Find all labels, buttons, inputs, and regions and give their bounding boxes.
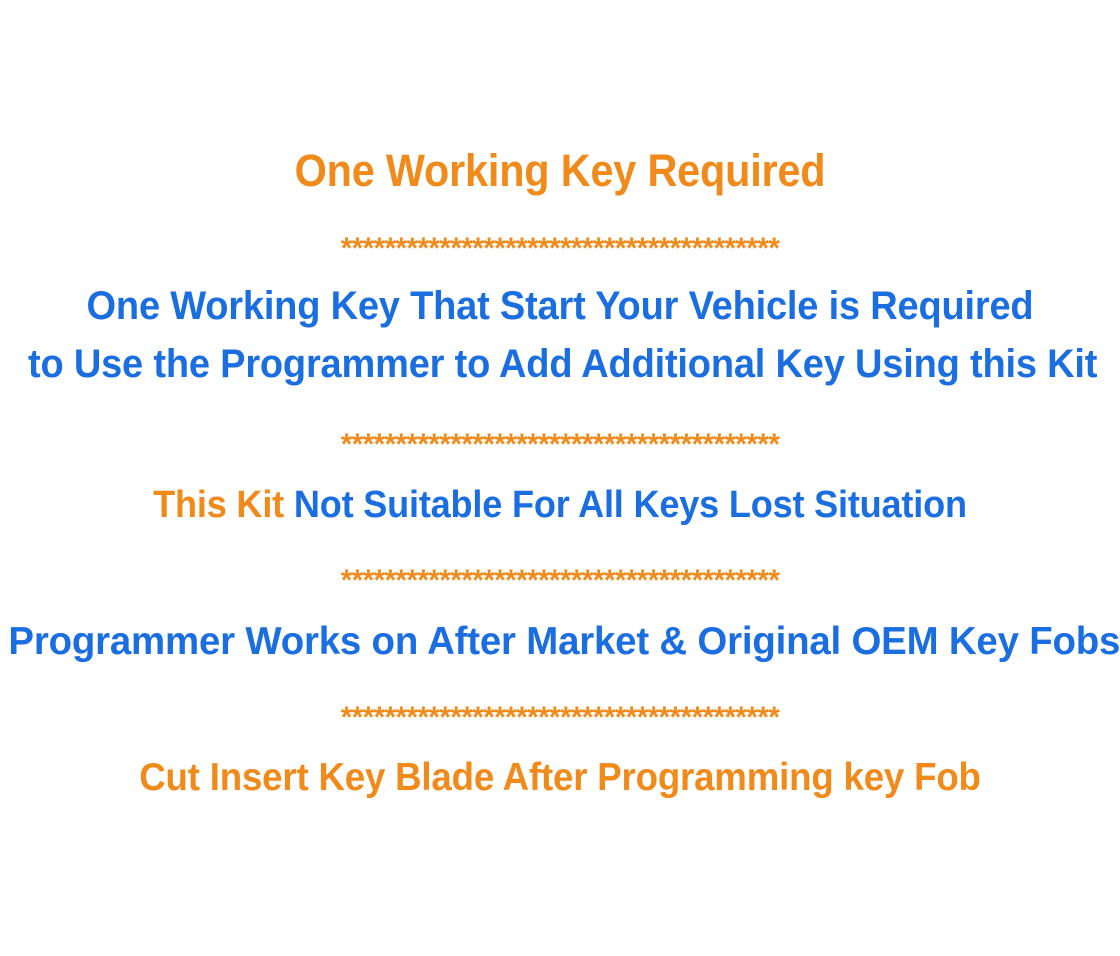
compatibility-line: Programmer Works on After Market & Origi… [8, 622, 1111, 661]
requirement-line-2: to Use the Programmer to Add Additional … [28, 344, 1092, 384]
separator-asterisks-1: **************************************** [6, 234, 1115, 264]
requirement-line-1: One Working Key That Start Your Vehicle … [28, 286, 1092, 326]
requirement-block: One Working Key That Start Your Vehicle … [0, 286, 1120, 384]
notice-content: One Working Key Required ***************… [0, 0, 1120, 956]
limitation-line: This Kit Not Suitable For All Keys Lost … [28, 486, 1092, 524]
limitation-emphasis: This Kit [153, 484, 284, 526]
notice-graphic: One Working Key Required ***************… [0, 0, 1120, 956]
separator-asterisks-4: **************************************** [6, 703, 1115, 733]
separator-asterisks-2: **************************************** [6, 430, 1115, 460]
notice-title: One Working Key Required [45, 148, 1075, 193]
instruction-line: Cut Insert Key Blade After Programming k… [34, 758, 1087, 797]
limitation-rest: Not Suitable For All Keys Lost Situation [284, 484, 967, 526]
separator-asterisks-3: **************************************** [6, 566, 1115, 596]
